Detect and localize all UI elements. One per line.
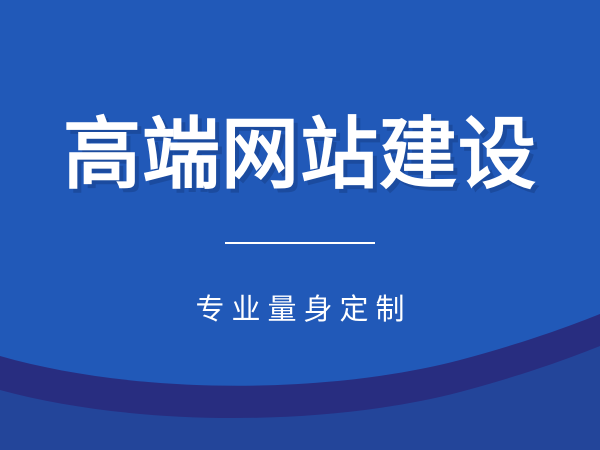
promo-banner: 高端网站建设 专业量身定制: [0, 0, 600, 450]
divider: [225, 242, 375, 244]
banner-content: 高端网站建设 专业量身定制: [0, 0, 600, 450]
headline: 高端网站建设: [0, 115, 600, 193]
subheadline: 专业量身定制: [0, 292, 600, 328]
